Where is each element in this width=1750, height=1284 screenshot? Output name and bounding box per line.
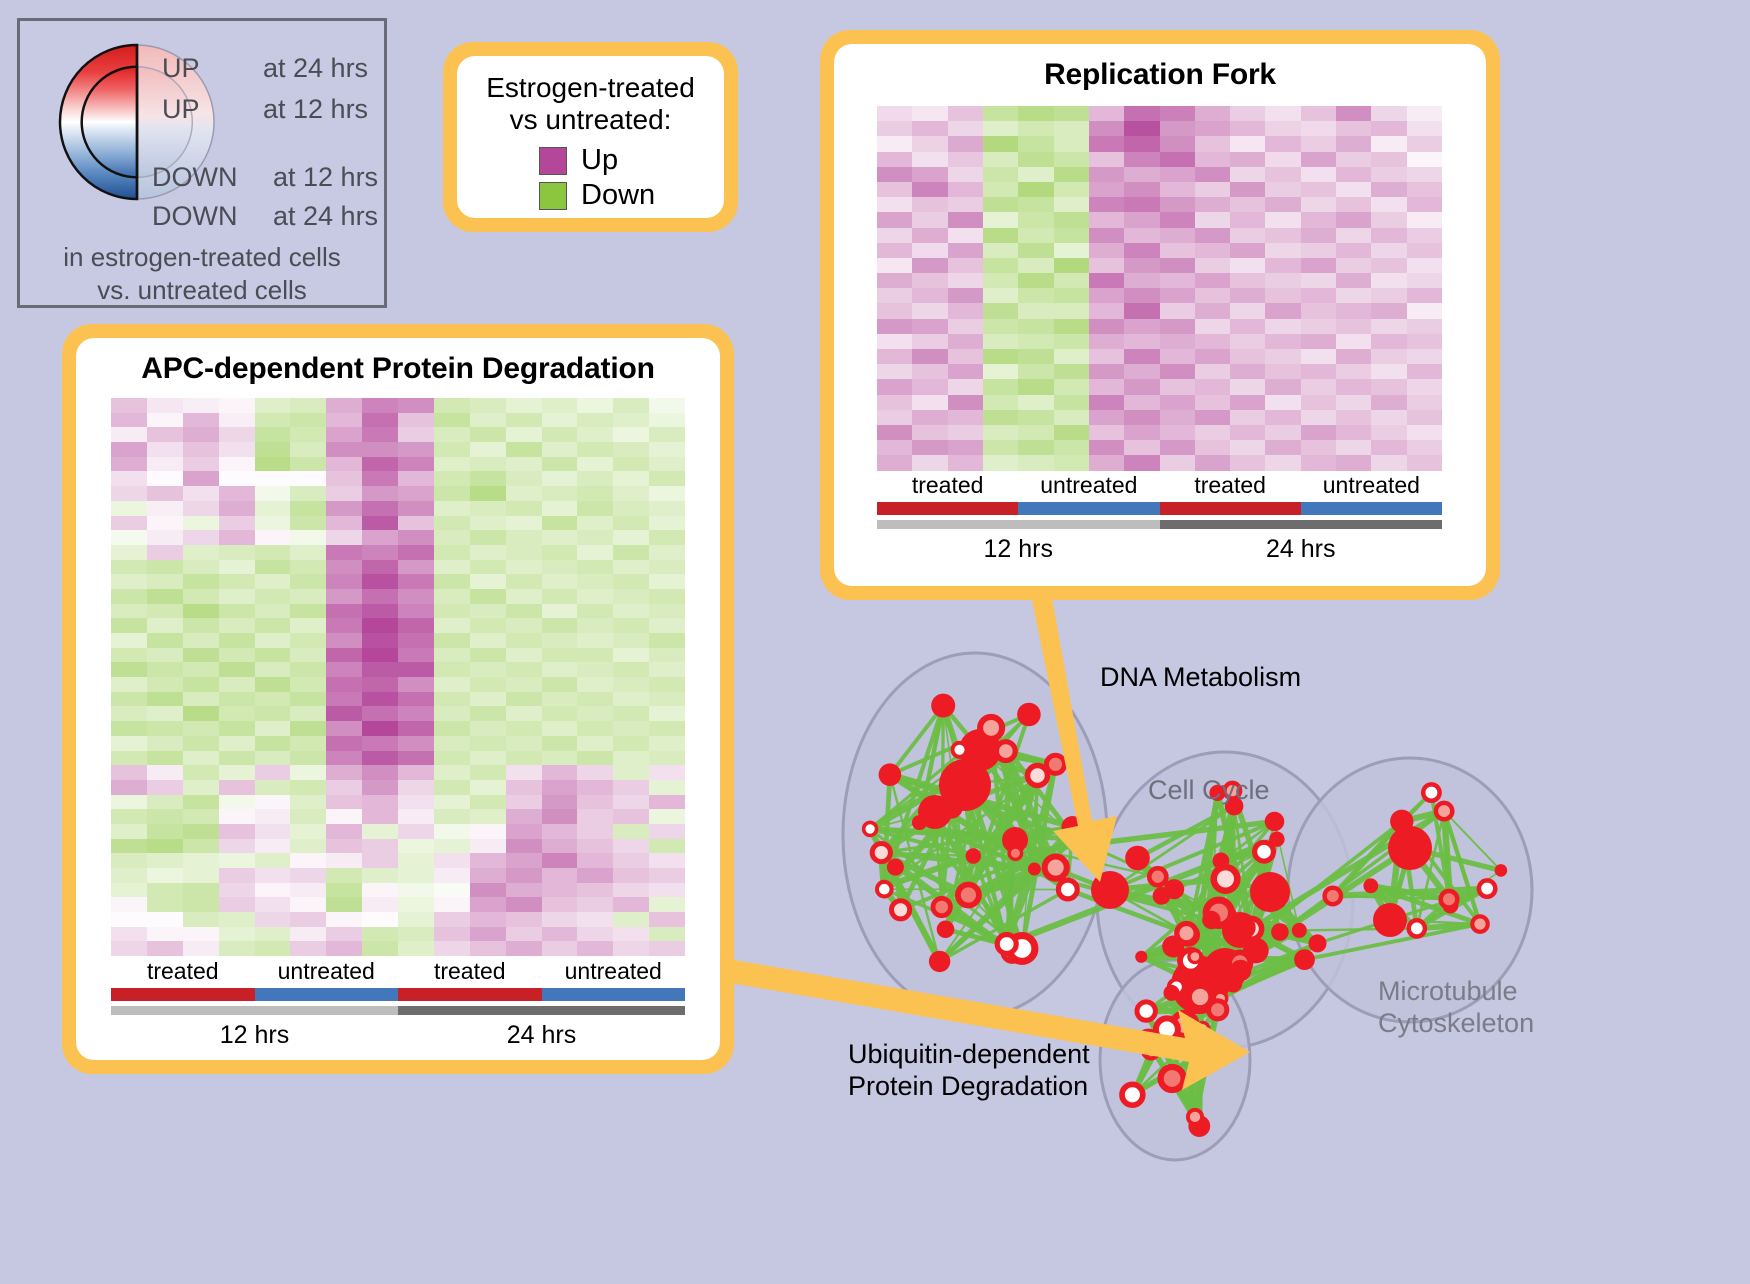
key-time-down-24: at 24 hrs — [273, 201, 378, 232]
apc-time-labels: 12 hrs 24 hrs — [111, 1021, 685, 1050]
apc-time-bars — [111, 1006, 685, 1015]
key-label-down-24: DOWN — [152, 201, 237, 232]
network-node[interactable] — [1495, 864, 1508, 877]
network-node[interactable] — [1294, 949, 1315, 970]
apc-bar-treated-12 — [111, 988, 255, 1001]
network-node[interactable] — [1436, 803, 1452, 819]
network-node[interactable] — [1390, 810, 1413, 833]
legend-label-up: Up — [581, 144, 618, 177]
network-node[interactable] — [1156, 1018, 1178, 1040]
network-node[interactable] — [940, 796, 963, 819]
apc-panel-title: APC-dependent Protein Degradation — [76, 338, 720, 386]
rf-bar-untreated-12 — [1018, 502, 1159, 515]
network-node[interactable] — [1472, 916, 1487, 931]
key-label-up-12: UP — [162, 94, 200, 125]
network-node[interactable] — [1265, 812, 1285, 832]
network-node[interactable] — [864, 822, 877, 835]
ub-label-line1: Ubiquitin-dependent — [848, 1038, 1090, 1070]
network-node[interactable] — [980, 717, 1002, 739]
key-label-down-12: DOWN — [152, 162, 237, 193]
network-node[interactable] — [1388, 826, 1432, 870]
cluster-label-dna-metabolism: DNA Metabolism — [1100, 662, 1301, 693]
network-node[interactable] — [1309, 934, 1327, 952]
apc-condition-bars — [111, 988, 685, 1001]
legend-title-line2: vs untreated: — [467, 104, 714, 136]
network-node[interactable] — [1164, 985, 1180, 1001]
network-node[interactable] — [892, 901, 910, 919]
apc-bar-untreated-24 — [542, 988, 686, 1001]
network-node[interactable] — [1189, 986, 1212, 1009]
legend-title-line1: Estrogen-treated — [467, 72, 714, 104]
network-node[interactable] — [1028, 863, 1041, 876]
network-node[interactable] — [937, 921, 955, 939]
rf-bar-treated-24 — [1160, 502, 1301, 515]
mt-label-line2: Cytoskeleton — [1378, 1007, 1534, 1039]
network-svg — [770, 600, 1750, 1279]
network-node[interactable] — [1177, 924, 1196, 943]
rf-bar-untreated-24 — [1301, 502, 1442, 515]
network-node[interactable] — [1213, 853, 1230, 870]
network-node[interactable] — [966, 848, 981, 863]
rf-timebar-12 — [877, 520, 1160, 529]
network-node[interactable] — [1017, 703, 1041, 727]
expression-key-box: UP at 24 hrs UP at 12 hrs DOWN at 12 hrs… — [17, 18, 387, 308]
key-time-down-12: at 12 hrs — [273, 162, 378, 193]
apc-dependent-protein-degradation-panel: APC-dependent Protein Degradation treate… — [62, 324, 734, 1074]
ub-label-line2: Protein Degradation — [848, 1070, 1090, 1102]
key-time-up-12: at 12 hrs — [263, 94, 368, 125]
mt-label-line1: Microtubule — [1378, 975, 1534, 1007]
network-node[interactable] — [1188, 1110, 1202, 1124]
network-node[interactable] — [1196, 1023, 1208, 1035]
network-node[interactable] — [1230, 960, 1252, 982]
network-node[interactable] — [997, 935, 1016, 954]
apc-heatmap — [111, 398, 685, 956]
legend-label-down: Down — [581, 179, 655, 212]
replication-fork-title: Replication Fork — [834, 44, 1486, 92]
network-node[interactable] — [887, 859, 904, 876]
cluster-label-cell-cycle: Cell Cycle — [1148, 775, 1270, 806]
network-node[interactable] — [1161, 1067, 1184, 1090]
rf-cond-label-1: untreated — [1018, 472, 1159, 499]
network-node[interactable] — [877, 882, 892, 897]
network-node[interactable] — [933, 898, 950, 915]
legend-title: Estrogen-treated vs untreated: — [467, 72, 714, 136]
network-node[interactable] — [1409, 920, 1425, 936]
network-node[interactable] — [1045, 857, 1067, 879]
network-node[interactable] — [996, 742, 1015, 761]
network-node[interactable] — [958, 885, 979, 906]
rf-cond-label-0: treated — [877, 472, 1018, 499]
legend-item-up: Up — [539, 144, 714, 177]
network-node[interactable] — [1137, 1002, 1155, 1020]
legend-swatch-down-icon — [539, 182, 567, 210]
network-node[interactable] — [1091, 871, 1129, 909]
network-node[interactable] — [1479, 880, 1495, 896]
network-node[interactable] — [1269, 832, 1284, 847]
apc-condition-labels: treated untreated treated untreated — [111, 958, 685, 985]
network-node[interactable] — [879, 763, 902, 786]
rf-bar-treated-12 — [877, 502, 1018, 515]
network-node[interactable] — [1189, 951, 1201, 963]
network-node[interactable] — [1149, 868, 1166, 885]
legend-swatch-up-icon — [539, 147, 567, 175]
network-node[interactable] — [1191, 1055, 1207, 1071]
replication-fork-condition-labels: treated untreated treated untreated — [877, 472, 1442, 499]
cluster-label-ubiquitin-dependent-protein-degradation: Ubiquitin-dependent Protein Degradation — [848, 1038, 1090, 1103]
rf-timebar-24 — [1160, 520, 1443, 529]
updown-legend-card: Estrogen-treated vs untreated: Up Down — [443, 42, 738, 232]
replication-fork-heatmap — [877, 106, 1442, 471]
key-footer-line2: vs. untreated cells — [20, 274, 384, 307]
network-node[interactable] — [1255, 842, 1274, 861]
network-node[interactable] — [1062, 816, 1084, 838]
legend-items: Up Down — [467, 144, 714, 212]
apc-time-label-24: 24 hrs — [398, 1021, 685, 1050]
gene-network-diagram: DNA Metabolism Cell Cycle Microtubule Cy… — [770, 600, 1750, 1279]
network-node[interactable] — [1028, 766, 1048, 786]
network-node[interactable] — [1135, 951, 1147, 963]
rf-cond-label-2: treated — [1160, 472, 1301, 499]
apc-bar-untreated-12 — [255, 988, 399, 1001]
key-footer: in estrogen-treated cells vs. untreated … — [20, 241, 384, 306]
network-node[interactable] — [931, 694, 955, 718]
cluster-label-microtubule-cytoskeleton: Microtubule Cytoskeleton — [1378, 975, 1534, 1040]
network-node[interactable] — [1058, 880, 1077, 899]
network-node[interactable] — [1202, 911, 1220, 929]
apc-cond-label-3: untreated — [542, 958, 686, 985]
network-node[interactable] — [1122, 1084, 1143, 1105]
replication-fork-condition-bars — [877, 502, 1442, 515]
apc-time-label-12: 12 hrs — [111, 1021, 398, 1050]
rf-cond-label-3: untreated — [1301, 472, 1442, 499]
network-node[interactable] — [912, 815, 927, 830]
replication-fork-time-bars — [877, 520, 1442, 529]
apc-timebar-24 — [398, 1006, 685, 1015]
rf-time-label-12: 12 hrs — [877, 535, 1160, 564]
network-node[interactable] — [872, 844, 890, 862]
network-node[interactable] — [1125, 846, 1150, 871]
network-node[interactable] — [1153, 887, 1171, 905]
network-node[interactable] — [1232, 916, 1256, 940]
network-node[interactable] — [1250, 872, 1290, 912]
apc-timebar-12 — [111, 1006, 398, 1015]
network-node[interactable] — [1441, 891, 1458, 908]
legend-item-down: Down — [539, 179, 714, 212]
replication-fork-panel: Replication Fork treated untreated treat… — [820, 30, 1500, 600]
network-node[interactable] — [1363, 878, 1378, 893]
network-node[interactable] — [1325, 888, 1341, 904]
key-label-up-24: UP — [162, 53, 200, 84]
apc-cond-label-1: untreated — [255, 958, 399, 985]
apc-cond-label-0: treated — [111, 958, 255, 985]
network-node[interactable] — [1214, 867, 1238, 891]
key-time-up-24: at 24 hrs — [263, 53, 368, 84]
network-node[interactable] — [1423, 784, 1439, 800]
network-node[interactable] — [1271, 923, 1289, 941]
rf-time-label-24: 24 hrs — [1160, 535, 1443, 564]
apc-cond-label-2: treated — [398, 958, 542, 985]
network-node[interactable] — [1373, 903, 1407, 937]
key-footer-line1: in estrogen-treated cells — [20, 241, 384, 274]
network-node[interactable] — [1009, 847, 1021, 859]
network-node[interactable] — [1292, 923, 1307, 938]
network-node[interactable] — [929, 951, 950, 972]
network-node[interactable] — [953, 743, 967, 757]
replication-fork-time-labels: 12 hrs 24 hrs — [877, 535, 1442, 564]
apc-bar-treated-24 — [398, 988, 542, 1001]
